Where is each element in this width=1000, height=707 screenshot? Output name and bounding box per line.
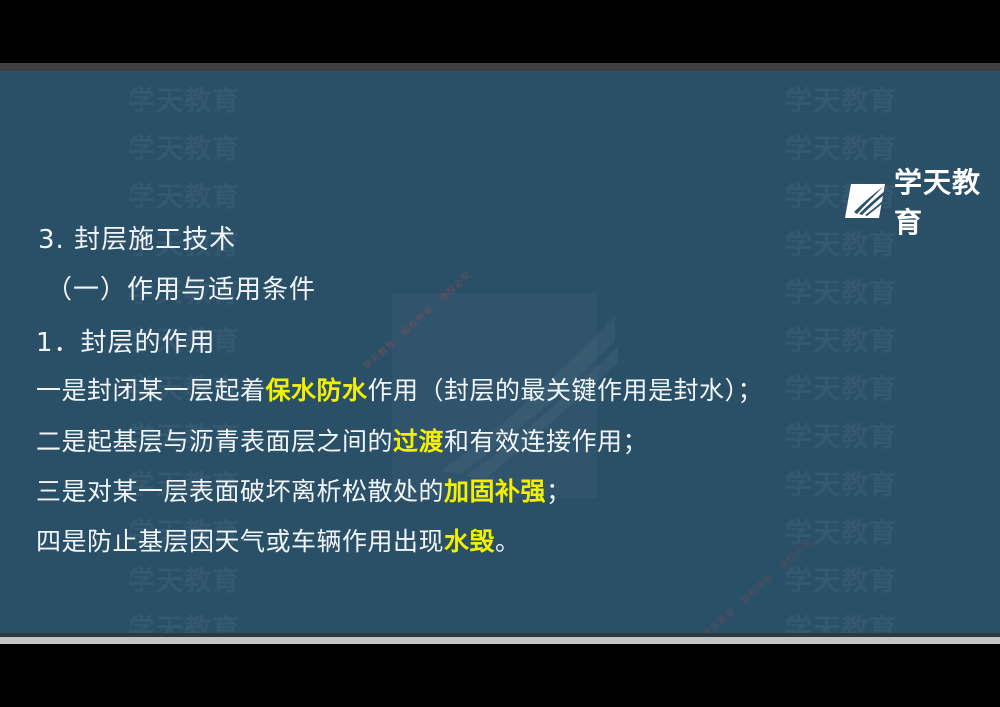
line-3-post: ； bbox=[546, 477, 572, 506]
line-1-highlight: 保水防水 bbox=[266, 376, 368, 405]
line-4-highlight: 水毁 bbox=[444, 527, 495, 556]
watermark-tile: 学天教育 bbox=[785, 319, 897, 358]
watermark-tile: 学天教育 bbox=[128, 175, 240, 214]
line-4-pre: 四是防止基层因天气或车辆作用出现 bbox=[36, 527, 444, 556]
letterbox-bottom bbox=[0, 644, 1000, 707]
watermark-tile: 学天教育 bbox=[785, 559, 897, 598]
line-2-post: 和有效连接作用； bbox=[444, 427, 648, 456]
watermark-tile: 学天教育 bbox=[128, 79, 240, 118]
watermark-tile: 学天教育 bbox=[785, 271, 897, 310]
brand-logo: 学天教育 bbox=[845, 161, 1000, 241]
line-3-pre: 三是对某一层表面破坏离析松散处的 bbox=[36, 477, 444, 506]
video-player: 学天教育学天教育学天教育学天教育学天教育学天教育学天教育学天教育学天教育学天教育… bbox=[0, 0, 1000, 707]
progress-bar[interactable] bbox=[0, 637, 1000, 644]
watermark-tile: 学天教育 bbox=[785, 367, 897, 406]
slide-canvas: 学天教育学天教育学天教育学天教育学天教育学天教育学天教育学天教育学天教育学天教育… bbox=[0, 71, 1000, 633]
watermark-tile: 学天教育 bbox=[785, 79, 897, 118]
brand-logo-text: 学天教育 bbox=[894, 161, 1000, 241]
watermark-tile: 学天教育 bbox=[785, 463, 897, 502]
line-1-pre: 一是封闭某一层起着 bbox=[36, 376, 266, 405]
body-line-2: 二是起基层与沥青表面层之间的过渡和有效连接作用； bbox=[36, 422, 648, 458]
player-top-strip bbox=[0, 63, 1000, 71]
line-1-post: 作用（封层的最关键作用是封水）； bbox=[368, 376, 764, 405]
watermark-tile: 学天教育 bbox=[128, 607, 240, 633]
line-2-highlight: 过渡 bbox=[393, 427, 444, 456]
body-line-1: 一是封闭某一层起着保水防水作用（封层的最关键作用是封水）； bbox=[36, 371, 763, 407]
line-2-pre: 二是起基层与沥青表面层之间的 bbox=[36, 427, 393, 456]
line-4-post: 。 bbox=[495, 527, 521, 556]
watermark-tile: 学天教育 bbox=[785, 415, 897, 454]
road-swoosh-icon bbox=[845, 184, 885, 218]
heading-subsection: （一）作用与适用条件 bbox=[46, 269, 316, 306]
heading-section: 3. 封层施工技术 bbox=[38, 219, 236, 256]
watermark-tile: 学天教育 bbox=[128, 559, 240, 598]
body-line-4: 四是防止基层因天气或车辆作用出现水毁。 bbox=[36, 522, 521, 558]
line-3-highlight: 加固补强 bbox=[444, 477, 546, 506]
heading-item: 1．封层的作用 bbox=[36, 322, 216, 359]
watermark-tile: 学天教育 bbox=[128, 127, 240, 166]
body-line-3: 三是对某一层表面破坏离析松散处的加固补强； bbox=[36, 472, 572, 508]
letterbox-top bbox=[0, 0, 1000, 63]
watermark-tile: 学天教育 bbox=[785, 607, 897, 633]
